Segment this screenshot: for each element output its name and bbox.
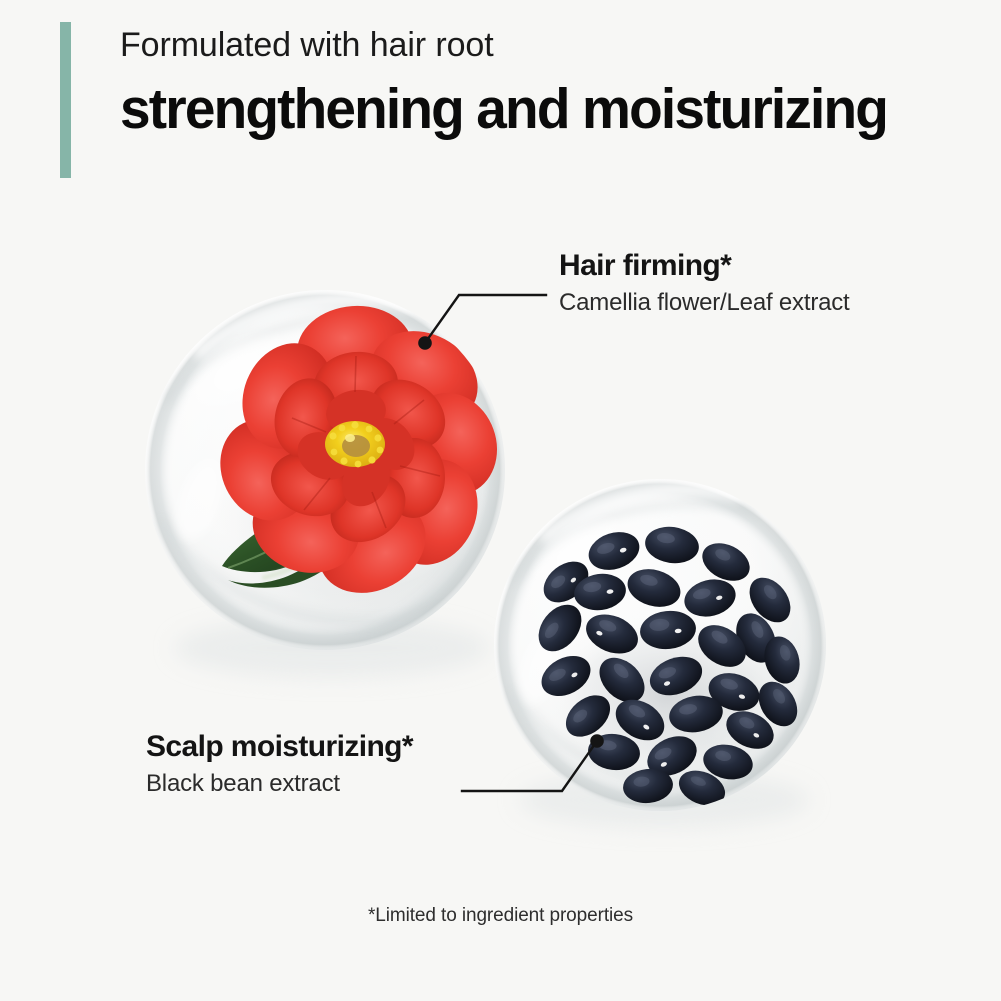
footnote: *Limited to ingredient properties [0, 905, 1001, 927]
callout-scalp-moisturizing: Scalp moisturizing* Black bean extract [146, 729, 413, 800]
heading-text: Formulated with hair root strengthening … [120, 22, 980, 145]
callout-hair-firming-title: Hair firming* [559, 248, 850, 284]
leader-dot-scalp-moisturizing [590, 734, 604, 748]
camellia-bubble [145, 290, 511, 678]
callout-hair-firming: Hair firming* Camellia flower/Leaf extra… [559, 248, 850, 319]
camellia-stamen [325, 421, 385, 467]
headline-line-1: Formulated with hair root [120, 22, 980, 68]
callout-scalp-moisturizing-subtitle: Black bean extract [146, 768, 413, 800]
callout-scalp-moisturizing-title: Scalp moisturizing* [146, 729, 413, 765]
camellia-leaf [222, 508, 352, 588]
leader-dot-hair-firming [418, 336, 432, 350]
accent-bar [60, 22, 71, 178]
headline-line-2: strengthening and moisturizing [120, 73, 950, 145]
black-bean-pile [530, 523, 805, 811]
callout-hair-firming-subtitle: Camellia flower/Leaf extract [559, 287, 850, 319]
leader-line-hair-firming [418, 295, 546, 350]
infographic-canvas: Formulated with hair root strengthening … [0, 0, 1001, 1001]
camellia-flower [204, 302, 511, 611]
heading-block: Formulated with hair root strengthening … [60, 22, 980, 182]
leader-line-scalp-moisturizing [462, 734, 604, 791]
black-bean-bubble [494, 479, 826, 828]
